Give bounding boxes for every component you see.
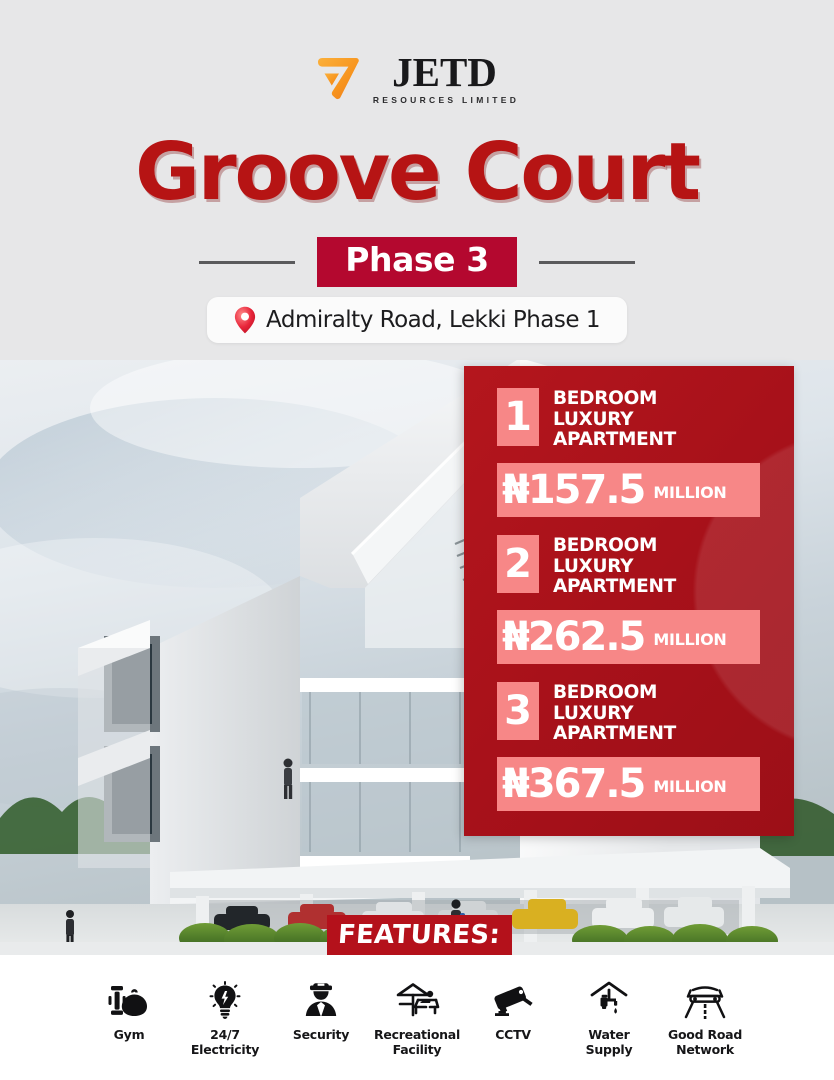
pricing-item[interactable]: 2 BEDROOM LUXURY APARTMENT ₦262.5 MILLIO…	[497, 535, 760, 664]
currency-symbol: ₦	[502, 614, 528, 660]
feature-item-water[interactable]: Water Supply	[561, 977, 657, 1057]
price-amount: ₦367.5	[502, 764, 644, 804]
umbrella-lounger-icon	[394, 977, 440, 1019]
location-pill[interactable]: Admiralty Road, Lekki Phase 1	[207, 297, 627, 343]
bedroom-count-badge: 3	[497, 682, 539, 740]
feature-label: 24/7 Electricity	[191, 1028, 259, 1057]
feature-item-gym[interactable]: Gym	[81, 977, 177, 1043]
price-unit: MILLION	[653, 771, 726, 796]
price-value: 367.5	[528, 761, 645, 807]
phase-row: Phase 3	[0, 236, 834, 288]
feature-label: Security	[293, 1028, 349, 1043]
brand-name: JETD	[392, 53, 497, 92]
cctv-camera-icon	[491, 977, 535, 1019]
price-value: 157.5	[528, 467, 645, 513]
price-bar: ₦157.5 MILLION	[497, 463, 760, 517]
currency-symbol: ₦	[502, 761, 528, 807]
flyer-canvas: JETD RESOURCES LIMITED Groove Court Phas…	[0, 0, 834, 1080]
brand-logo[interactable]: JETD RESOURCES LIMITED	[0, 48, 834, 110]
feature-item-road[interactable]: Good Road Network	[657, 977, 753, 1057]
location-text: Admiralty Road, Lekki Phase 1	[266, 307, 600, 333]
bedroom-count-badge: 2	[497, 535, 539, 593]
pricing-panel: 1 BEDROOM LUXURY APARTMENT ₦157.5 MILLIO…	[464, 366, 794, 836]
map-pin-icon	[234, 306, 256, 334]
security-officer-icon	[300, 977, 342, 1019]
pricing-type-row: 2 BEDROOM LUXURY APARTMENT	[497, 535, 760, 598]
orange-arrow-seven-icon	[315, 56, 361, 100]
pricing-item[interactable]: 3 BEDROOM LUXURY APARTMENT ₦367.5 MILLIO…	[497, 682, 760, 811]
features-banner-label: FEATURES:	[337, 920, 501, 950]
car-road-icon	[682, 977, 728, 1019]
feature-label: CCTV	[495, 1028, 531, 1043]
phase-badge: Phase 3	[317, 237, 517, 287]
price-amount: ₦157.5	[502, 470, 644, 510]
page-title: Groove Court	[0, 133, 834, 212]
currency-symbol: ₦	[502, 467, 528, 513]
header-band: JETD RESOURCES LIMITED Groove Court Phas…	[0, 0, 834, 360]
pricing-type-row: 1 BEDROOM LUXURY APARTMENT	[497, 388, 760, 451]
price-value: 262.5	[528, 614, 645, 660]
feature-item-recreational[interactable]: Recreational Facility	[369, 977, 465, 1057]
feature-item-cctv[interactable]: CCTV	[465, 977, 561, 1043]
price-bar: ₦262.5 MILLION	[497, 610, 760, 664]
pricing-item[interactable]: 1 BEDROOM LUXURY APARTMENT ₦157.5 MILLIO…	[497, 388, 760, 517]
lightbulb-icon	[207, 977, 243, 1019]
feature-label: Gym	[114, 1028, 145, 1043]
bedroom-count-badge: 1	[497, 388, 539, 446]
feature-label: Recreational Facility	[374, 1028, 460, 1057]
divider-right	[539, 261, 635, 264]
apartment-type-label: BEDROOM LUXURY APARTMENT	[553, 535, 676, 598]
price-amount: ₦262.5	[502, 617, 644, 657]
features-strip: Gym	[0, 955, 834, 1080]
feature-item-electricity[interactable]: 24/7 Electricity	[177, 977, 273, 1057]
brand-logo-text: JETD RESOURCES LIMITED	[370, 53, 519, 105]
features-banner: FEATURES:	[327, 915, 512, 955]
water-tap-house-icon	[589, 977, 629, 1019]
price-unit: MILLION	[653, 624, 726, 649]
dumbbell-kettlebell-icon	[108, 977, 150, 1019]
price-unit: MILLION	[653, 477, 726, 502]
feature-label: Good Road Network	[668, 1028, 742, 1057]
divider-left	[199, 261, 295, 264]
feature-label: Water Supply	[586, 1028, 633, 1057]
pricing-type-row: 3 BEDROOM LUXURY APARTMENT	[497, 682, 760, 745]
feature-item-security[interactable]: Security	[273, 977, 369, 1043]
apartment-type-label: BEDROOM LUXURY APARTMENT	[553, 388, 676, 451]
price-bar: ₦367.5 MILLION	[497, 757, 760, 811]
brand-tagline: RESOURCES LIMITED	[370, 95, 519, 105]
apartment-type-label: BEDROOM LUXURY APARTMENT	[553, 682, 676, 745]
